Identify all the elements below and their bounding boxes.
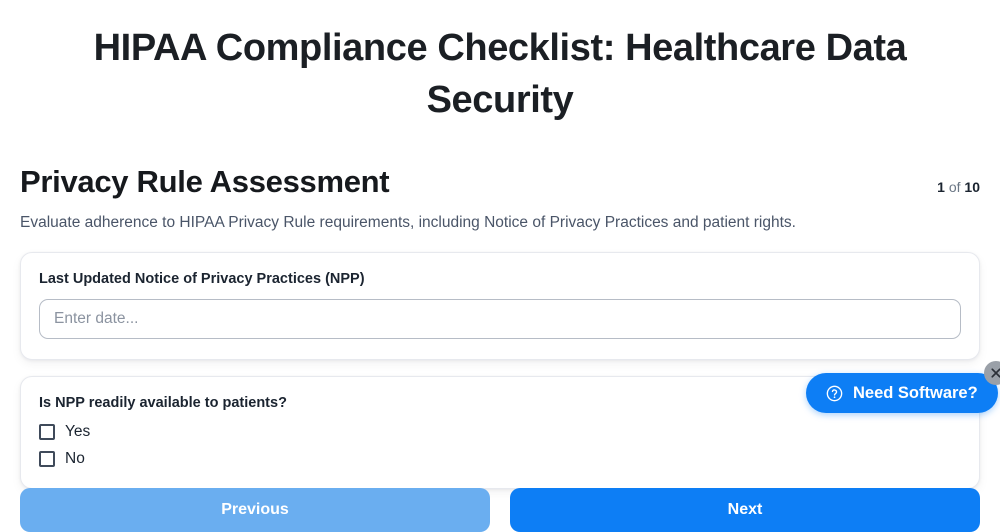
step-total: 10 bbox=[964, 179, 980, 195]
need-software-button[interactable]: Need Software? bbox=[806, 373, 998, 413]
field-label-npp-date: Last Updated Notice of Privacy Practices… bbox=[39, 271, 961, 287]
step-of-label: of bbox=[949, 179, 961, 195]
step-current: 1 bbox=[937, 179, 945, 195]
option-label-yes: Yes bbox=[65, 423, 90, 441]
navigation-bar: Previous Next bbox=[0, 488, 1000, 532]
close-icon bbox=[990, 367, 1000, 379]
option-row-yes[interactable]: Yes bbox=[39, 423, 961, 441]
npp-date-input[interactable] bbox=[39, 299, 961, 339]
question-card-npp-date: Last Updated Notice of Privacy Practices… bbox=[20, 252, 980, 360]
section-title: Privacy Rule Assessment bbox=[20, 164, 389, 200]
section-description: Evaluate adherence to HIPAA Privacy Rule… bbox=[0, 212, 1000, 234]
need-software-label: Need Software? bbox=[853, 384, 978, 403]
option-label-no: No bbox=[65, 450, 85, 468]
next-button[interactable]: Next bbox=[510, 488, 980, 532]
step-counter: 1 of 10 bbox=[937, 179, 980, 195]
page-title: HIPAA Compliance Checklist: Healthcare D… bbox=[0, 0, 1000, 126]
previous-button[interactable]: Previous bbox=[20, 488, 490, 532]
checkbox-yes[interactable] bbox=[39, 424, 55, 440]
option-row-no[interactable]: No bbox=[39, 450, 961, 468]
section-header: Privacy Rule Assessment 1 of 10 bbox=[0, 164, 1000, 200]
need-software-widget: Need Software? bbox=[806, 373, 998, 413]
checkbox-no[interactable] bbox=[39, 451, 55, 467]
question-circle-icon bbox=[826, 385, 843, 402]
question-cards: Last Updated Notice of Privacy Practices… bbox=[0, 252, 1000, 489]
